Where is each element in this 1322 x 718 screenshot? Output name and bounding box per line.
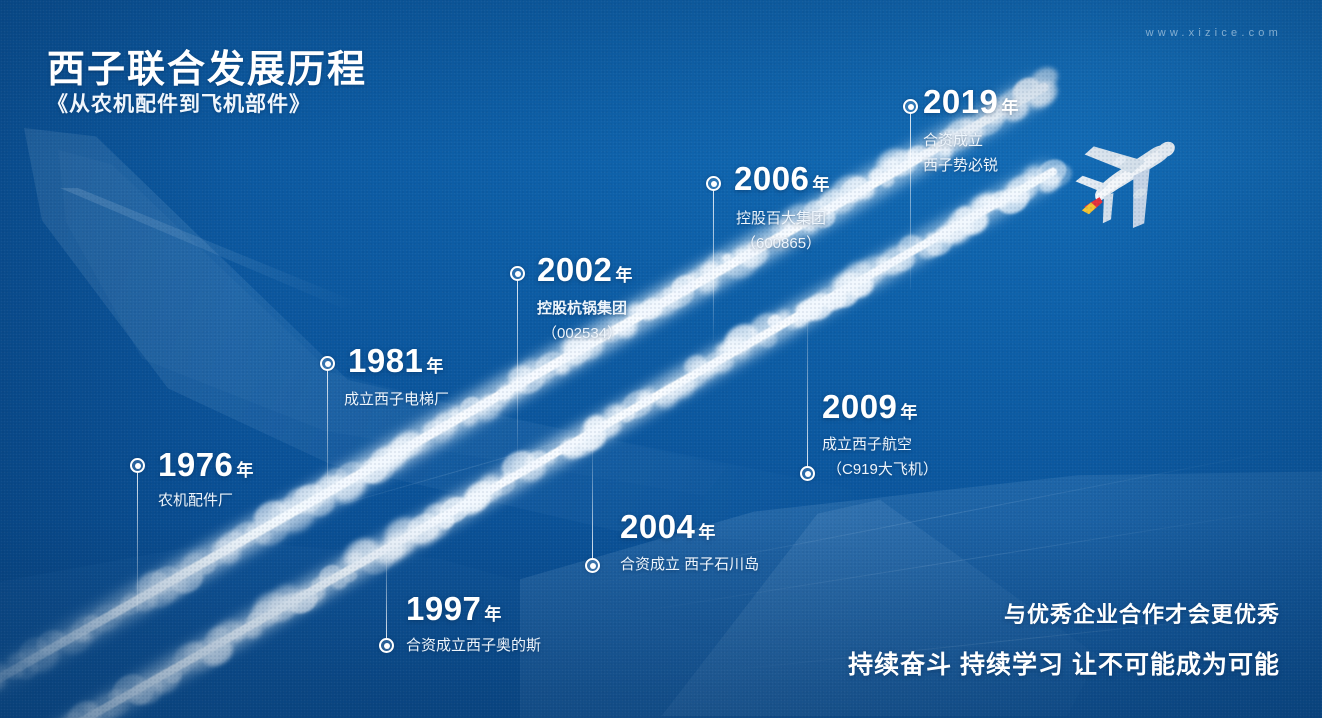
event-year-number: 2004: [620, 508, 695, 545]
event-desc-line-1: 控股百大集团: [736, 208, 826, 231]
event-year-number: 2019: [923, 83, 998, 120]
event-year-number: 1997: [406, 590, 481, 627]
site-watermark: www.xizice.com: [1146, 27, 1282, 39]
page-subtitle: 《从农机配件到飞机部件》: [47, 88, 311, 118]
marker-dot-icon[interactable]: [130, 458, 145, 473]
event-desc-line-1: 成立西子电梯厂: [344, 389, 449, 412]
event-year-number: 2006: [734, 160, 809, 197]
event-desc-line-2: （600865）: [741, 233, 821, 256]
event-year: 2002年: [537, 253, 633, 286]
slogan-line-2: 持续奋斗 持续学习 让不可能成为可能: [848, 645, 1280, 681]
marker-dot-icon[interactable]: [903, 99, 918, 114]
marker-stem: [327, 371, 328, 511]
event-year-suffix: 年: [426, 357, 444, 376]
event-desc-line-1: 控股杭锅集团: [537, 298, 627, 321]
event-desc-line-1: 合资成立: [923, 130, 983, 153]
marker-dot-icon[interactable]: [510, 266, 525, 281]
marker-dot-icon[interactable]: [320, 356, 335, 371]
event-year-suffix: 年: [698, 523, 716, 542]
event-desc-line-2: （002534）: [542, 323, 622, 346]
event-desc-line-1: 成立西子航空: [822, 434, 912, 457]
event-year: 1981年: [348, 344, 444, 377]
event-year: 2006年: [734, 162, 830, 195]
slogan-line-1: 与优秀企业合作才会更优秀: [1004, 597, 1280, 629]
infographic-poster: 西子联合发展历程 《从农机配件到飞机部件》 www.xizice.com 197…: [0, 0, 1322, 718]
marker-dot-icon[interactable]: [379, 638, 394, 653]
marker-stem: [386, 548, 387, 638]
event-year: 1976年: [158, 448, 254, 481]
event-desc-line-1: 合资成立 西子石川岛: [620, 554, 759, 577]
page-title: 西子联合发展历程: [47, 38, 367, 93]
event-year-suffix: 年: [615, 266, 633, 285]
event-year: 1997年: [406, 592, 502, 625]
event-year-number: 2002: [537, 251, 612, 288]
marker-stem: [592, 442, 593, 558]
event-year: 2009年: [822, 390, 918, 423]
event-desc-line-1: 合资成立西子奥的斯: [406, 635, 541, 658]
marker-stem: [713, 191, 714, 341]
event-year-suffix: 年: [812, 175, 830, 194]
event-year-suffix: 年: [1001, 98, 1019, 117]
event-year-number: 2009: [822, 388, 897, 425]
event-year-number: 1976: [158, 446, 233, 483]
marker-stem: [807, 304, 808, 466]
marker-stem: [137, 473, 138, 613]
event-year-suffix: 年: [900, 403, 918, 422]
event-desc-line-2: 西子势必锐: [923, 155, 998, 178]
event-year: 2019年: [923, 85, 1019, 118]
marker-dot-icon[interactable]: [585, 558, 600, 573]
event-year-suffix: 年: [484, 605, 502, 624]
event-year-suffix: 年: [236, 461, 254, 480]
marker-stem: [517, 281, 518, 456]
marker-stem: [910, 114, 911, 289]
marker-dot-icon[interactable]: [800, 466, 815, 481]
marker-dot-icon[interactable]: [706, 176, 721, 191]
event-desc-line-1: 农机配件厂: [158, 490, 233, 513]
event-year: 2004年: [620, 510, 716, 543]
event-year-number: 1981: [348, 342, 423, 379]
event-desc-line-2: （C919大飞机）: [827, 459, 938, 482]
